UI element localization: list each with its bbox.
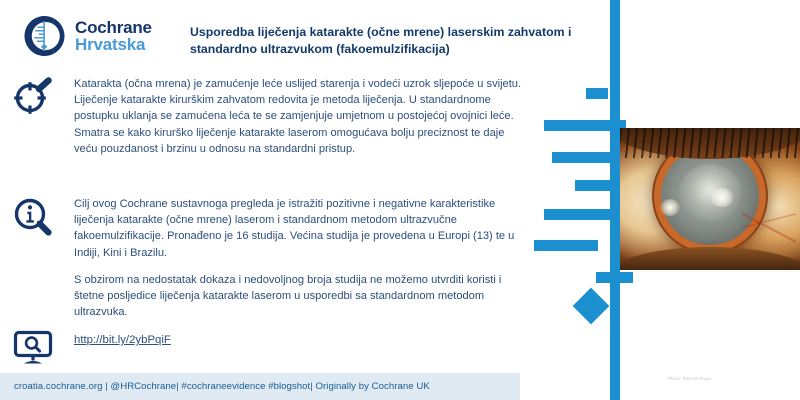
eye-highlight: [660, 199, 680, 216]
monitor-search-icon: [12, 326, 54, 368]
photo-credit: Photo: Rakesh Ahuja: [668, 376, 711, 381]
section-2-text: Cilj ovog Cochrane sustavnoga pregleda j…: [74, 196, 526, 261]
eye-lashes: [620, 128, 800, 158]
logo-name-hrvatska: Hrvatska: [75, 36, 152, 53]
forest-plot-bar: [544, 120, 626, 131]
crosshair-magnifier-icon: [12, 76, 54, 118]
cochrane-forest-plot-logo-icon: [22, 14, 66, 58]
footer-bar: croatia.cochrane.org | @HRCochrane| #coc…: [0, 373, 520, 400]
info-magnifier-icon: [12, 196, 54, 238]
footer-credits: croatia.cochrane.org | @HRCochrane| #coc…: [0, 381, 430, 392]
forest-plot-bar: [534, 240, 598, 251]
study-link[interactable]: http://bit.ly/2ybPqiF: [74, 334, 171, 346]
forest-plot-axis-line: [610, 0, 620, 400]
cataract-eye-photo: [620, 128, 800, 270]
conclusion-text: S obzirom na nedostatak dokaza i nedovol…: [74, 272, 526, 321]
page-title: Usporedba liječenja katarakte (očne mren…: [190, 24, 575, 59]
forest-plot-bar: [552, 152, 612, 163]
logo-name-cochrane: Cochrane: [75, 19, 152, 36]
forest-plot-bar: [586, 88, 608, 99]
section-1-text: Katarakta (očna mrena) je zamućenje leće…: [74, 76, 526, 157]
blogshot-poster: Photo: Rakesh Ahuja Cochrane Hrvatska Us…: [0, 0, 800, 400]
logo-wordmark: Cochrane Hrvatska: [75, 19, 152, 54]
forest-plot-summary-diamond: [573, 288, 610, 325]
eye-highlight: [710, 188, 734, 207]
forest-plot-bar: [596, 272, 633, 283]
cochrane-logo: Cochrane Hrvatska: [22, 14, 152, 58]
forest-plot-bar: [544, 209, 632, 220]
eye-blood-vessels: [742, 208, 796, 246]
